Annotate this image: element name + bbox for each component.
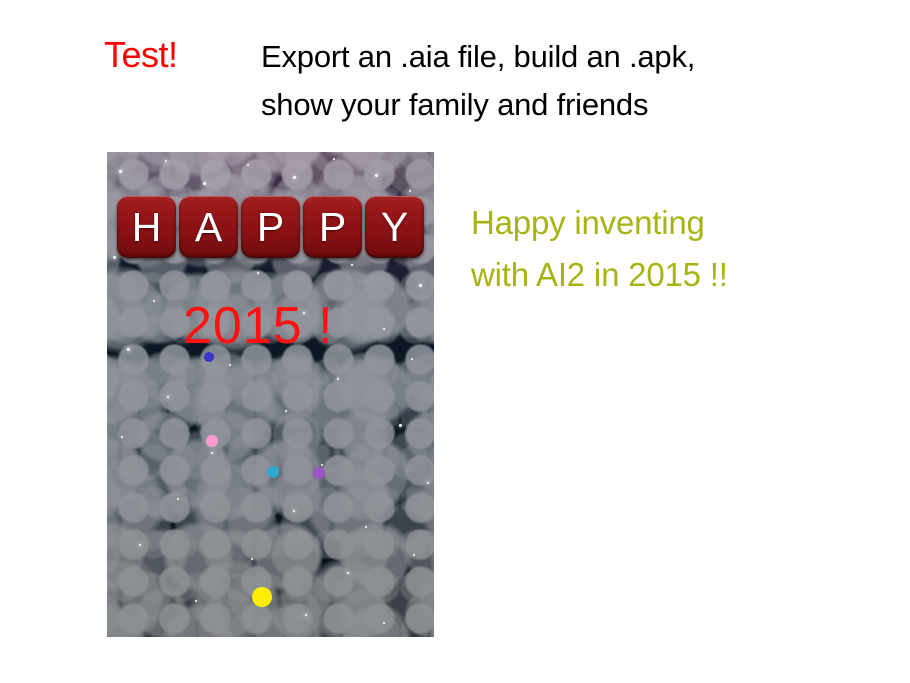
dot-pink [206,435,218,447]
app-screenshot: H A P P Y 2015 ! [107,152,434,637]
happy-tile-a: A [179,196,238,258]
slide-subtitle-line-1: Export an .aia file, build an .apk, [261,33,821,81]
happy-tile-y: Y [365,196,424,258]
dot-blue [204,352,214,362]
dot-cyan [267,466,279,478]
happy-tile-p2: P [303,196,362,258]
ball-yellow [252,587,272,607]
closing-message-line-2: with AI2 in 2015 !! [471,249,871,301]
happy-tile-p1: P [241,196,300,258]
closing-message: Happy inventing with AI2 in 2015 !! [471,197,871,301]
year-label: 2015 ! [183,300,334,352]
slide-subtitle: Export an .aia file, build an .apk, show… [261,33,821,129]
dot-purple [313,467,325,479]
page-title: Test! [104,37,178,73]
slide-subtitle-line-2: show your family and friends [261,81,821,129]
happy-banner: H A P P Y [117,196,424,258]
happy-tile-h: H [117,196,176,258]
closing-message-line-1: Happy inventing [471,197,871,249]
